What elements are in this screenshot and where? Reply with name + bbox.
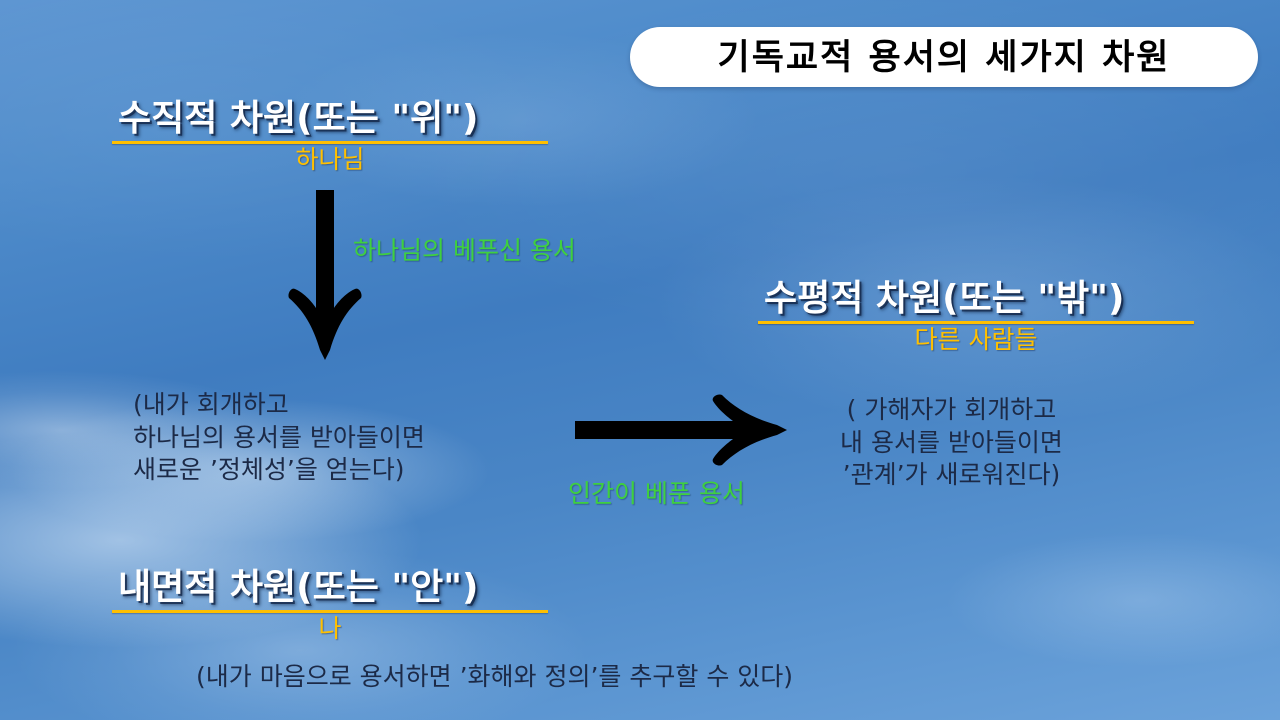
body-horizontal-dimension: ( 가해자가 회개하고 내 용서를 받아들이면 ’관계’가 새로워진다) xyxy=(840,394,1063,492)
arrow-down-icon xyxy=(285,190,365,360)
heading-horizontal-dimension: 수평적 차원(또는 "밖") 다른 사람들 xyxy=(758,280,1194,355)
heading-vertical-dimension: 수직적 차원(또는 "위") 하나님 xyxy=(112,100,548,175)
heading-inner-dimension: 내면적 차원(또는 "안") 나 xyxy=(112,569,548,644)
slide-title-bubble: 기독교적 용서의 세가지 차원 xyxy=(630,27,1258,87)
heading-inner-label: 내면적 차원(또는 "안") xyxy=(112,569,548,607)
heading-horizontal-underline xyxy=(758,321,1194,324)
heading-inner-underline xyxy=(112,610,548,613)
body-vertical-dimension: (내가 회개하고 하나님의 용서를 받아들이면 새로운 ’정체성’을 얻는다) xyxy=(133,389,425,487)
heading-vertical-subject: 하나님 xyxy=(112,146,548,175)
arrow-right-icon xyxy=(575,400,805,460)
arrow-right-label: 인간이 베푼 용서 xyxy=(568,480,745,509)
heading-inner-subject: 나 xyxy=(112,615,548,644)
heading-horizontal-label: 수평적 차원(또는 "밖") xyxy=(758,280,1194,318)
body-inner-dimension: (내가 마음으로 용서하면 ’화해와 정의’를 추구할 수 있다) xyxy=(196,661,793,694)
arrow-down-label: 하나님의 베푸신 용서 xyxy=(353,237,576,266)
heading-vertical-underline xyxy=(112,141,548,144)
slide-canvas: 기독교적 용서의 세가지 차원 수직적 차원(또는 "위") 하나님 하나님의 … xyxy=(0,0,1280,720)
heading-vertical-label: 수직적 차원(또는 "위") xyxy=(112,100,548,138)
slide-title: 기독교적 용서의 세가지 차원 xyxy=(718,40,1171,75)
heading-horizontal-subject: 다른 사람들 xyxy=(758,326,1194,355)
